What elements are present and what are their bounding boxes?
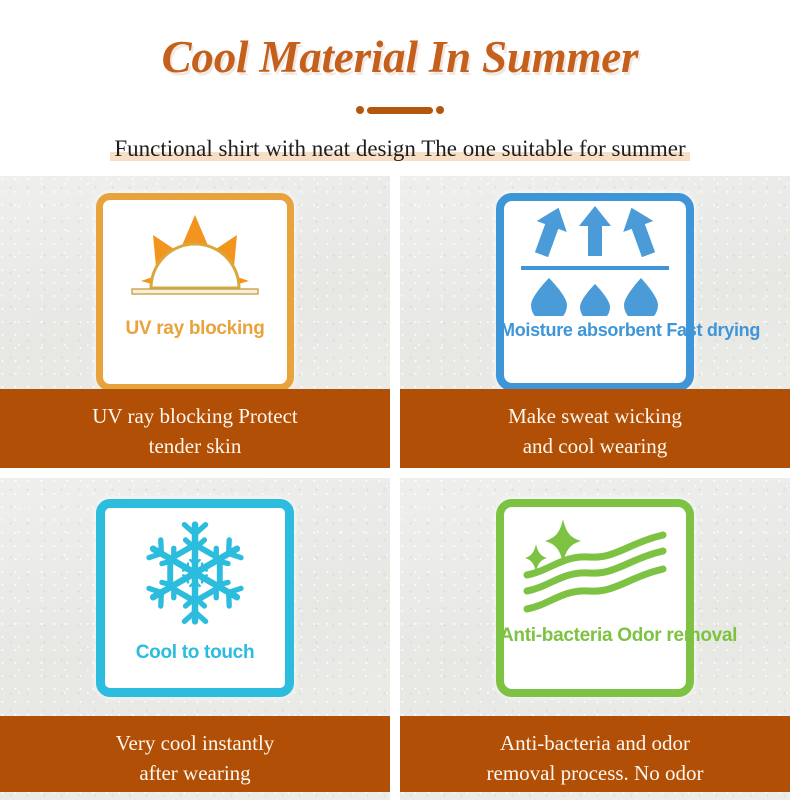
uv-caption-line-2: tender skin — [10, 431, 380, 461]
moisture-badge: Moisture absorbent Fast drying — [496, 193, 694, 391]
header: Cool Material In Summer Functional shirt… — [0, 0, 800, 176]
antibacteria-caption: Anti-bacteria and odor removal process. … — [400, 716, 790, 792]
antibacteria-caption-line-1: Anti-bacteria and odor — [410, 728, 780, 758]
snowflake-icon — [105, 508, 285, 638]
feature-card-moisture-absorbent: Moisture absorbent Fast drying Make swea… — [400, 176, 790, 468]
cool-caption-line-2: after wearing — [10, 758, 380, 788]
feature-card-uv-ray-blocking: UV ray blocking UV ray blocking Protect … — [0, 176, 390, 468]
divider-dot-right — [436, 106, 444, 114]
infographic-page: Cool Material In Summer Functional shirt… — [0, 0, 800, 800]
feature-grid: UV ray blocking UV ray blocking Protect … — [0, 176, 800, 800]
moisture-badge-label-line-1: Moisture absorbent — [500, 320, 662, 340]
subtitle-text: Functional shirt with neat design The on… — [114, 136, 685, 161]
antibacteria-badge-label: Anti-bacteria Odor removal — [500, 625, 690, 647]
page-title: Cool Material In Summer — [0, 31, 800, 83]
divider-dot-left — [356, 106, 364, 114]
sparkle-waves-icon — [504, 507, 686, 625]
uv-caption: UV ray blocking Protect tender skin — [0, 389, 390, 468]
antibacteria-badge-label-line-1: Anti-bacteria — [500, 625, 612, 646]
uv-badge-label: UV ray blocking — [100, 318, 290, 340]
antibacteria-badge: Anti-bacteria Odor removal — [496, 499, 694, 697]
antibacteria-badge-label-line-2: Odor removal — [617, 625, 737, 646]
uv-badge: UV ray blocking — [96, 193, 294, 391]
antibacteria-caption-line-2: removal process. No odor — [410, 758, 780, 788]
moisture-arrows-droplets-icon — [504, 201, 686, 319]
page-subtitle: Functional shirt with neat design The on… — [110, 136, 689, 162]
feature-card-anti-bacteria: Anti-bacteria Odor removal Anti-bacteria… — [400, 478, 790, 800]
uv-caption-line-1: UV ray blocking Protect — [10, 401, 380, 431]
subtitle-container: Functional shirt with neat design The on… — [0, 136, 800, 162]
moisture-caption-line-1: Make sweat wicking — [410, 401, 780, 431]
moisture-badge-label-line-2: Fast drying — [666, 320, 760, 340]
sun-rising-icon — [103, 200, 287, 318]
decorative-divider — [0, 102, 800, 118]
cool-caption: Very cool instantly after wearing — [0, 716, 390, 792]
moisture-caption-line-2: and cool wearing — [410, 431, 780, 461]
cool-caption-line-1: Very cool instantly — [10, 728, 380, 758]
divider-bar — [367, 107, 433, 114]
cool-badge-label: Cool to touch — [100, 642, 290, 664]
moisture-caption: Make sweat wicking and cool wearing — [400, 389, 790, 468]
moisture-badge-label: Moisture absorbent Fast drying — [500, 319, 690, 341]
feature-card-cool-to-touch: Cool to touch Very cool instantly after … — [0, 478, 390, 800]
cool-badge: Cool to touch — [96, 499, 294, 697]
